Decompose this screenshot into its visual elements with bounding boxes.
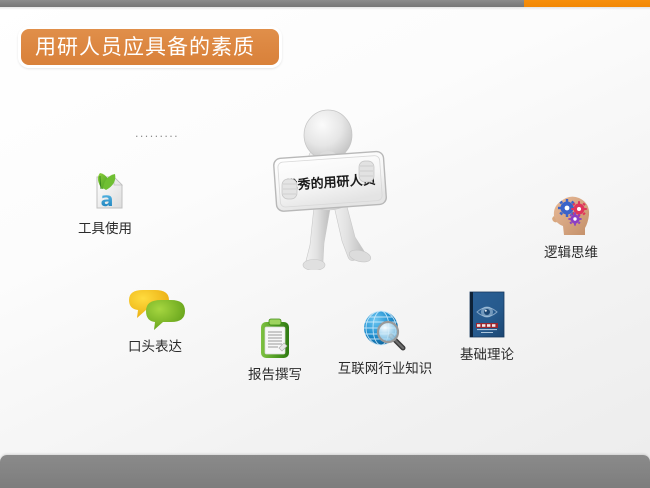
bottom-bar — [0, 455, 650, 488]
decorative-dots: ......... — [135, 128, 179, 139]
item-basic-theory: 基础理论 — [447, 290, 527, 363]
item-label: 口头表达 — [128, 340, 182, 355]
slide-canvas: 用研人员应具备的素质 ......... — [0, 0, 650, 488]
item-internet-industry-knowledge: 互联网行业知识 — [330, 308, 440, 377]
item-tool-usage: a 工具使用 — [62, 168, 148, 237]
item-logical-thinking: 逻辑思维 — [530, 192, 612, 261]
globe-magnifier-icon — [360, 308, 410, 358]
item-label: 工具使用 — [78, 222, 132, 237]
item-report-writing: 报告撰写 — [232, 318, 318, 383]
book-eye-icon — [465, 290, 509, 344]
top-bar-shadow — [0, 7, 650, 10]
top-bar-orange-segment — [524, 0, 650, 7]
item-label: 互联网行业知识 — [338, 362, 433, 377]
top-bar-gray-segment — [0, 0, 524, 7]
head-gears-icon — [546, 192, 596, 242]
speech-bubbles-icon — [124, 286, 186, 336]
item-label: 基础理论 — [460, 348, 514, 363]
mannequin-with-sign: 优秀的用研人员 — [258, 105, 398, 270]
page-title: 用研人员应具备的素质 — [21, 37, 255, 58]
slide-title-box: 用研人员应具备的素质 — [18, 26, 282, 68]
clipboard-icon — [258, 318, 292, 364]
item-oral-expression: 口头表达 — [112, 286, 198, 355]
svg-text:a: a — [101, 189, 114, 211]
leaf-document-a-icon: a — [82, 168, 128, 218]
item-label: 报告撰写 — [248, 368, 302, 383]
item-label: 逻辑思维 — [544, 246, 598, 261]
